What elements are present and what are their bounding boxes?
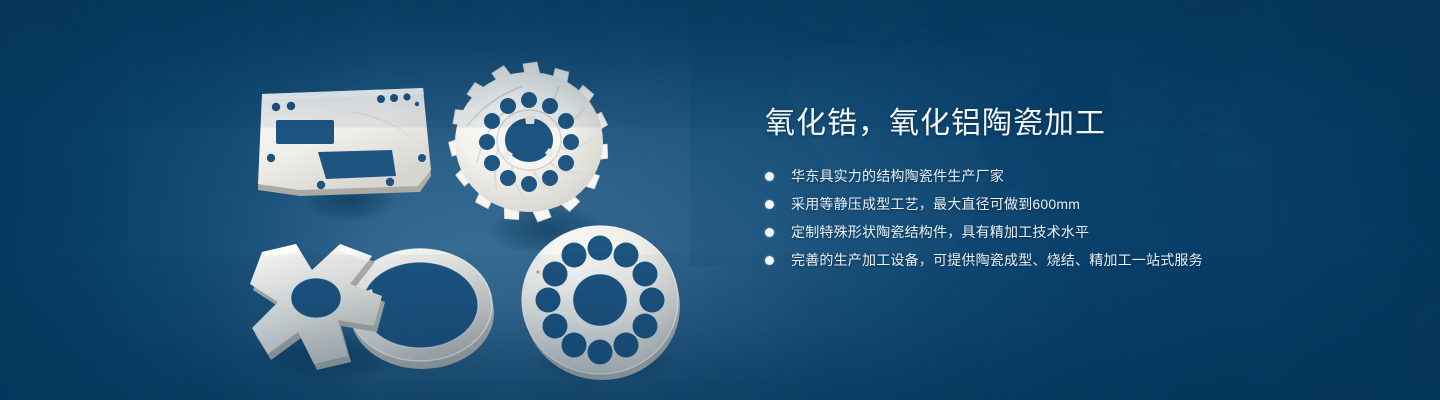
bullet-dot-icon bbox=[765, 228, 774, 237]
list-item: 采用等静压成型工艺，最大直径可做到600mm bbox=[765, 194, 1385, 215]
list-item-label: 定制特殊形状陶瓷结构件，具有精加工技术水平 bbox=[791, 224, 1089, 240]
list-item-label: 华东具实力的结构陶瓷件生产厂家 bbox=[791, 168, 1004, 184]
list-item-label: 完善的生产加工设备，可提供陶瓷成型、烧结、精加工一站式服务 bbox=[791, 252, 1203, 268]
hero-banner: 氧化锆，氧化铝陶瓷加工 华东具实力的结构陶瓷件生产厂家 采用等静压成型工艺，最大… bbox=[0, 0, 1440, 400]
bullet-dot-icon bbox=[765, 200, 774, 209]
list-item: 完善的生产加工设备，可提供陶瓷成型、烧结、精加工一站式服务 bbox=[765, 250, 1385, 271]
feature-list: 华东具实力的结构陶瓷件生产厂家 采用等静压成型工艺，最大直径可做到600mm 定… bbox=[765, 166, 1385, 271]
banner-text-column: 氧化锆，氧化铝陶瓷加工 华东具实力的结构陶瓷件生产厂家 采用等静压成型工艺，最大… bbox=[765, 104, 1385, 278]
bullet-dot-icon bbox=[765, 256, 774, 265]
page-title: 氧化锆，氧化铝陶瓷加工 bbox=[765, 104, 1385, 144]
list-item: 华东具实力的结构陶瓷件生产厂家 bbox=[765, 166, 1385, 187]
bullet-dot-icon bbox=[765, 172, 774, 181]
list-item-label: 采用等静压成型工艺，最大直径可做到600mm bbox=[791, 196, 1080, 212]
list-item: 定制特殊形状陶瓷结构件，具有精加工技术水平 bbox=[765, 222, 1385, 243]
